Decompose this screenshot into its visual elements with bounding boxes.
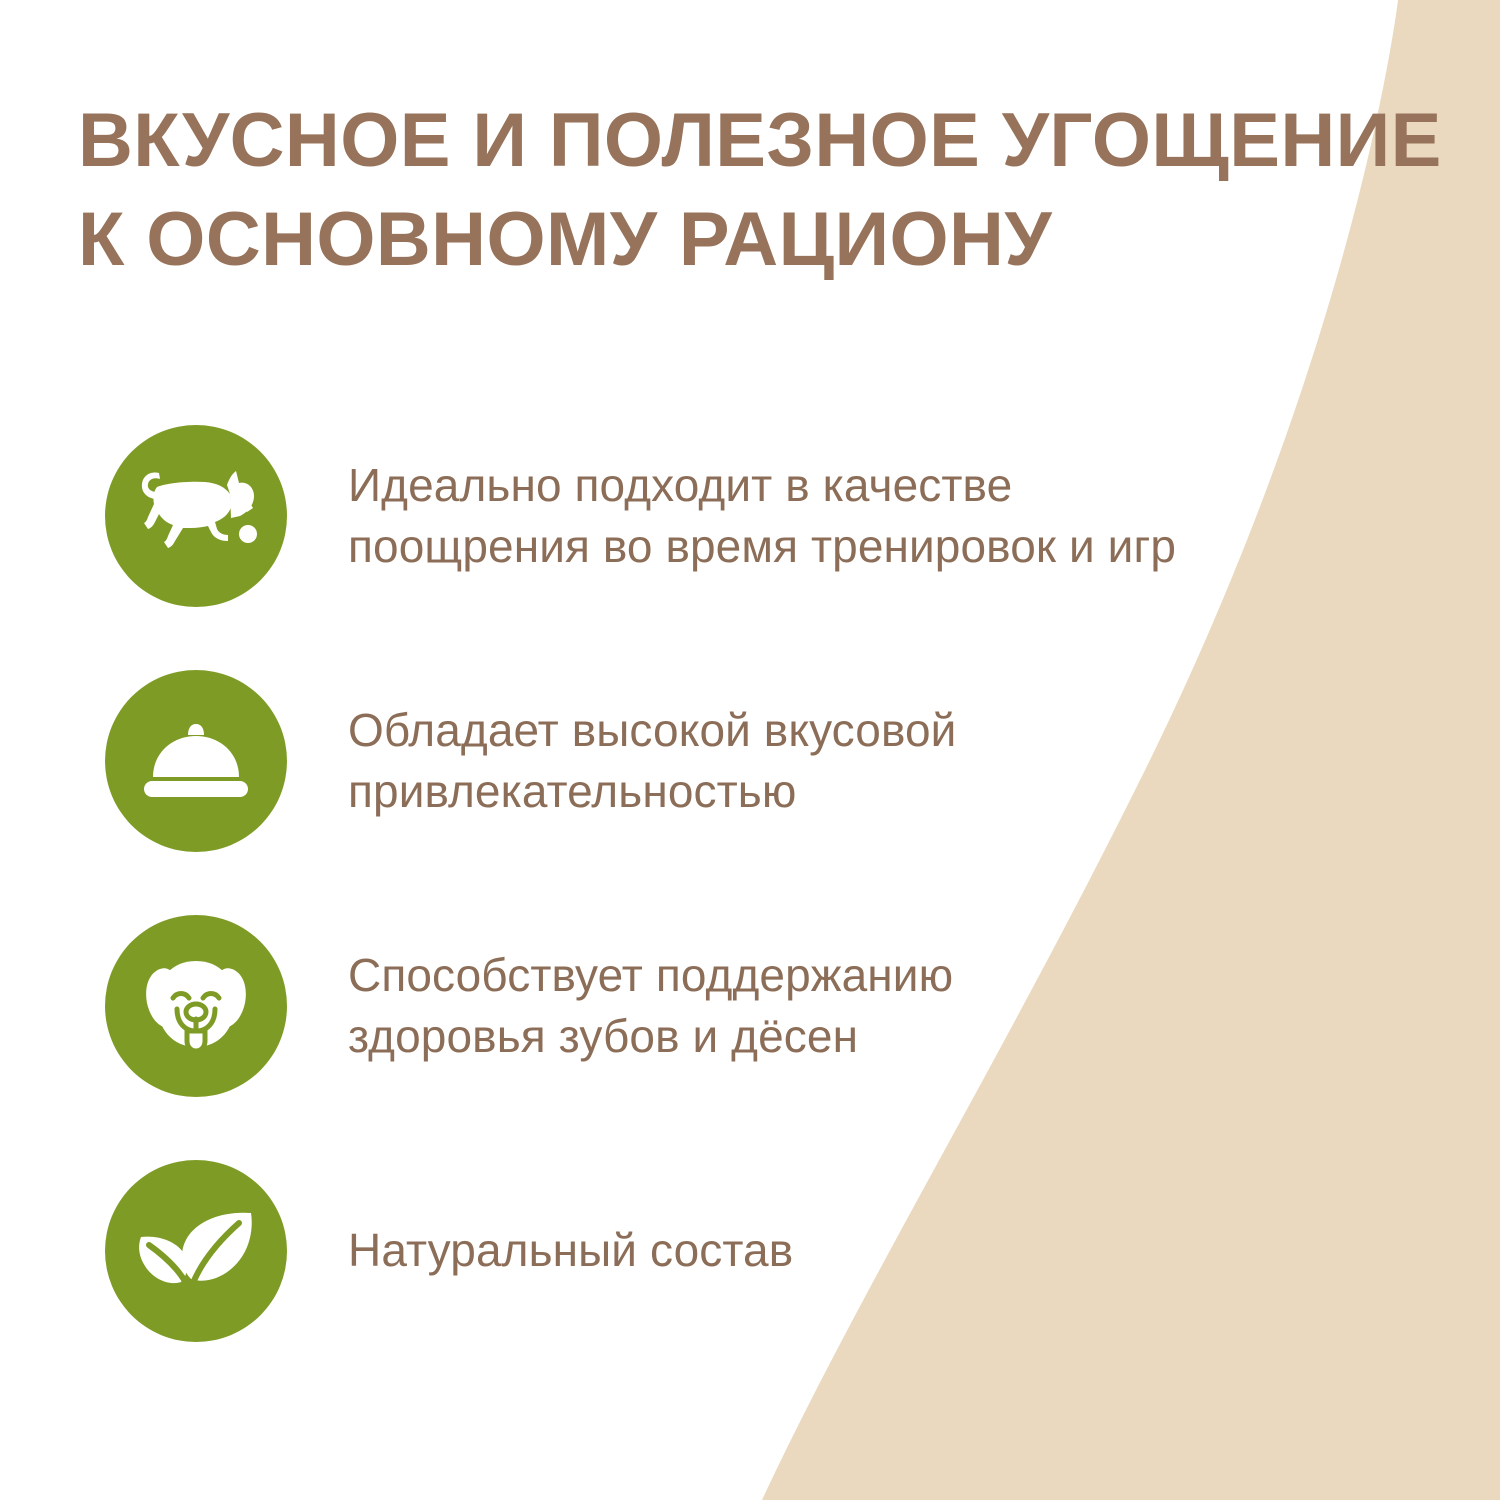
- benefit-line-2: здоровья зубов и дёсен: [348, 1006, 1440, 1067]
- list-item-text: Натуральный состав: [348, 1220, 1500, 1281]
- benefit-line-1: Натуральный состав: [348, 1220, 1440, 1281]
- benefit-line-1: Обладает высокой вкусовой: [348, 700, 1440, 761]
- list-item: Обладает высокой вкусовой привлекательно…: [0, 670, 1500, 852]
- list-item: Натуральный состав: [0, 1160, 1500, 1342]
- running-dog-with-ball-icon: [105, 425, 287, 607]
- smiling-dog-face-icon: [105, 915, 287, 1097]
- page-title-line-2: К ОСНОВНОМУ РАЦИОНУ: [78, 191, 1418, 290]
- list-item-text: Идеально подходит в качестве поощрения в…: [348, 455, 1500, 577]
- page-title: ВКУСНОЕ И ПОЛЕЗНОЕ УГОЩЕНИЕ К ОСНОВНОМУ …: [78, 92, 1418, 290]
- benefit-line-2: привлекательностью: [348, 761, 1440, 822]
- two-leaves-icon: [105, 1160, 287, 1342]
- benefits-poster: ВКУСНОЕ И ПОЛЕЗНОЕ УГОЩЕНИЕ К ОСНОВНОМУ …: [0, 0, 1500, 1500]
- benefit-line-1: Способствует поддержанию: [348, 945, 1440, 1006]
- benefits-list: Идеально подходит в качестве поощрения в…: [0, 425, 1500, 1405]
- list-item-text: Обладает высокой вкусовой привлекательно…: [348, 700, 1500, 822]
- list-item-text: Способствует поддержанию здоровья зубов …: [348, 945, 1500, 1067]
- benefit-line-2: поощрения во время тренировок и игр: [348, 516, 1440, 577]
- page-title-line-1: ВКУСНОЕ И ПОЛЕЗНОЕ УГОЩЕНИЕ: [78, 92, 1418, 191]
- benefit-line-1: Идеально подходит в качестве: [348, 455, 1440, 516]
- food-dome-cloche-icon: [105, 670, 287, 852]
- list-item: Идеально подходит в качестве поощрения в…: [0, 425, 1500, 607]
- list-item: Способствует поддержанию здоровья зубов …: [0, 915, 1500, 1097]
